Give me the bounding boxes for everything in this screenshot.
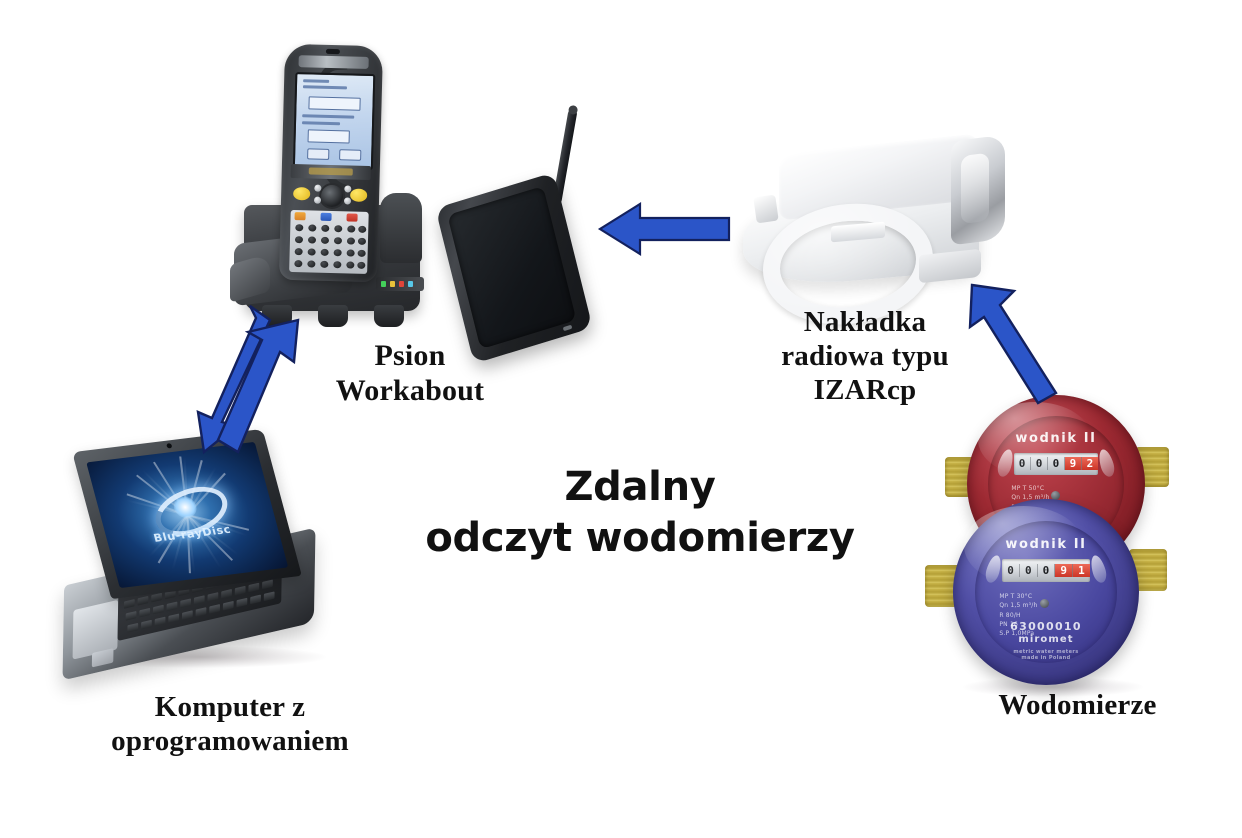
laptop-palmrest <box>73 600 119 660</box>
screen-bezel <box>291 164 371 180</box>
label-izar-radio-overlay: Nakładka radiowa typu IZARcp <box>740 305 990 408</box>
speaker-grille-icon <box>326 49 340 54</box>
navigation-pad-icon <box>321 185 344 208</box>
cold-water-meter: wodnik II 0 0 0 9 1 MP T 30°C Qn 1,5 m³/… <box>953 499 1139 685</box>
device-brand-strip <box>298 55 368 69</box>
overlay-connector-block <box>951 135 1005 246</box>
label-water-meters: Wodomierze <box>960 688 1195 722</box>
handheld-screen <box>293 72 375 170</box>
cradle-foot <box>374 305 404 327</box>
receiver-front-panel <box>447 186 576 349</box>
receiver-led-icon <box>563 325 573 332</box>
arrow-izar-to-receiver <box>595 196 735 262</box>
meter-brand-label: wodnik II <box>988 431 1123 446</box>
receiver-body <box>435 172 592 364</box>
arrow-laptop-to-psion <box>190 300 310 460</box>
laptop-screen: Blu-rayDisc <box>86 442 288 588</box>
cradle-foot <box>318 305 348 327</box>
radio-receiver-device <box>452 108 612 338</box>
overlay-latch-icon <box>753 195 778 224</box>
meter-serial-number: 63000010 <box>1010 620 1082 633</box>
meter-dial-face: wodnik II 0 0 0 9 1 MP T 30°C Qn 1,5 m³/… <box>975 521 1116 662</box>
diagram-canvas: Psion Workabout Nakładka radiowa typu IZ… <box>0 0 1242 838</box>
function-key-left-icon <box>293 187 310 200</box>
arrow-meter-to-izar <box>960 275 1070 410</box>
label-computer-with-software: Komputer z oprogramowaniem <box>70 690 390 758</box>
touchpad[interactable] <box>92 648 114 667</box>
laptop-computer-device: Blu-rayDisc <box>60 432 360 682</box>
meter-maker-fineprint: metric water meters made in Poland <box>975 649 1116 662</box>
meter-register-odometer: 0 0 0 9 2 <box>1014 453 1098 475</box>
meter-register-odometer: 0 0 0 9 1 <box>1002 559 1090 582</box>
cradle-status-leds <box>376 277 424 291</box>
cradle-post <box>380 193 422 263</box>
water-meters-group: wodnik II 0 0 0 9 2 MP T 50°C Qn 1,5 m³/… <box>945 395 1195 690</box>
meter-serial-block: 63000010 miromet metric water meters mad… <box>975 620 1116 661</box>
meter-brand-label: wodnik II <box>975 537 1116 552</box>
psion-workabout-device <box>230 45 430 335</box>
meter-maker-name: miromet <box>975 634 1116 647</box>
handheld-terminal-body <box>279 44 383 282</box>
function-key-right-icon <box>350 189 367 202</box>
diagram-title: Zdalny odczyt wodomierzy <box>390 462 890 564</box>
webcam-icon <box>166 443 172 448</box>
handheld-keypad <box>289 210 369 274</box>
